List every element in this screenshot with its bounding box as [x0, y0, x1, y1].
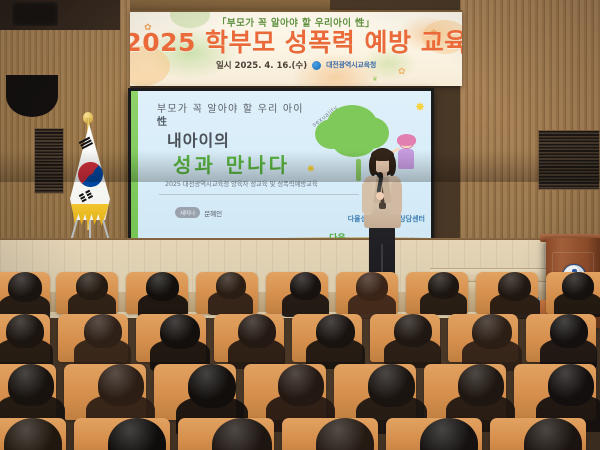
event-banner: ✿ ✿ ✿ ❦ 「부모가 꼭 알아야 할 우리아이 性」 2025 학부모 성폭…	[130, 10, 462, 86]
presenter-arm	[391, 181, 402, 215]
attendee-head	[548, 364, 594, 406]
sparkle-icon: ✸	[307, 165, 315, 175]
presenter-hand	[376, 192, 384, 200]
slide-accent-bar-left	[131, 91, 138, 261]
slide-kicker-hanja: 性	[157, 113, 167, 128]
attendee-head	[368, 364, 415, 407]
attendee-head	[472, 314, 512, 349]
attendee-head	[458, 364, 504, 406]
slide-divider	[159, 194, 359, 195]
auditorium-photo: ✿ ✿ ✿ ❦ 「부모가 꼭 알아야 할 우리아이 性」 2025 학부모 성폭…	[0, 0, 600, 450]
ceiling-speaker-icon	[12, 2, 58, 26]
attendee-head	[8, 272, 42, 302]
banner-title: 2025 학부모 성폭력 예방 교육	[130, 30, 462, 56]
attendee-head	[216, 272, 246, 299]
attendee-head	[160, 314, 200, 349]
attendee-head	[278, 364, 324, 406]
slide-kicker-text: 부모가 꼭 알아야 할 우리 아이	[157, 100, 304, 115]
presenter-arm	[362, 181, 373, 215]
attendee-head	[6, 314, 44, 348]
banner-footer: 일시 2025. 4. 16.(수) 대전광역시교육청	[216, 59, 376, 71]
slide-subtitle: 2025 대전광역시교육청 양육자 성교육 및 성폭력예방교육	[165, 179, 318, 188]
slide-speaker-row: 세미나 문혜인	[175, 207, 222, 218]
slide-headline-secondary: 성과 만나다	[173, 149, 290, 178]
wall-speaker-icon	[6, 75, 58, 117]
presenter-hair-side	[389, 156, 396, 176]
presenter-hair-side	[369, 156, 376, 176]
microphone-head-icon	[377, 172, 383, 178]
attendee-head	[238, 314, 276, 348]
attendee-head	[428, 272, 459, 299]
attendee-head	[290, 272, 321, 300]
banner-organization: 대전광역시교육청	[326, 60, 376, 70]
attendee-head	[356, 272, 388, 301]
sparkle-icon: ✸	[415, 101, 425, 113]
banner-subtitle: 「부모가 꼭 알아야 할 우리아이 性」	[217, 15, 375, 29]
attendee-head	[394, 314, 432, 347]
slide-speaker-name: 문혜인	[204, 208, 222, 218]
attendee-head	[84, 314, 122, 348]
wall-air-vent-right	[538, 130, 600, 190]
attendee-head	[8, 364, 54, 406]
attendee-head	[316, 314, 355, 348]
flower-icon: ✿	[398, 68, 406, 77]
slide-speaker-badge: 세미나	[175, 207, 200, 218]
attendee-head	[76, 272, 108, 300]
leaf-icon: ❦	[372, 76, 378, 83]
attendee-head	[146, 272, 179, 301]
attendee-head	[562, 272, 594, 300]
attendee-head	[498, 272, 531, 301]
slide-headline-primary: 내아이의	[167, 127, 230, 151]
audience	[0, 268, 600, 450]
education-office-logo-icon	[312, 61, 321, 70]
attendee-head	[98, 364, 144, 406]
attendee-head	[550, 314, 588, 348]
attendee-head	[188, 364, 236, 408]
banner-blob-decoration	[170, 10, 210, 28]
presenter	[358, 148, 406, 284]
banner-date: 일시 2025. 4. 16.(수)	[216, 59, 307, 71]
